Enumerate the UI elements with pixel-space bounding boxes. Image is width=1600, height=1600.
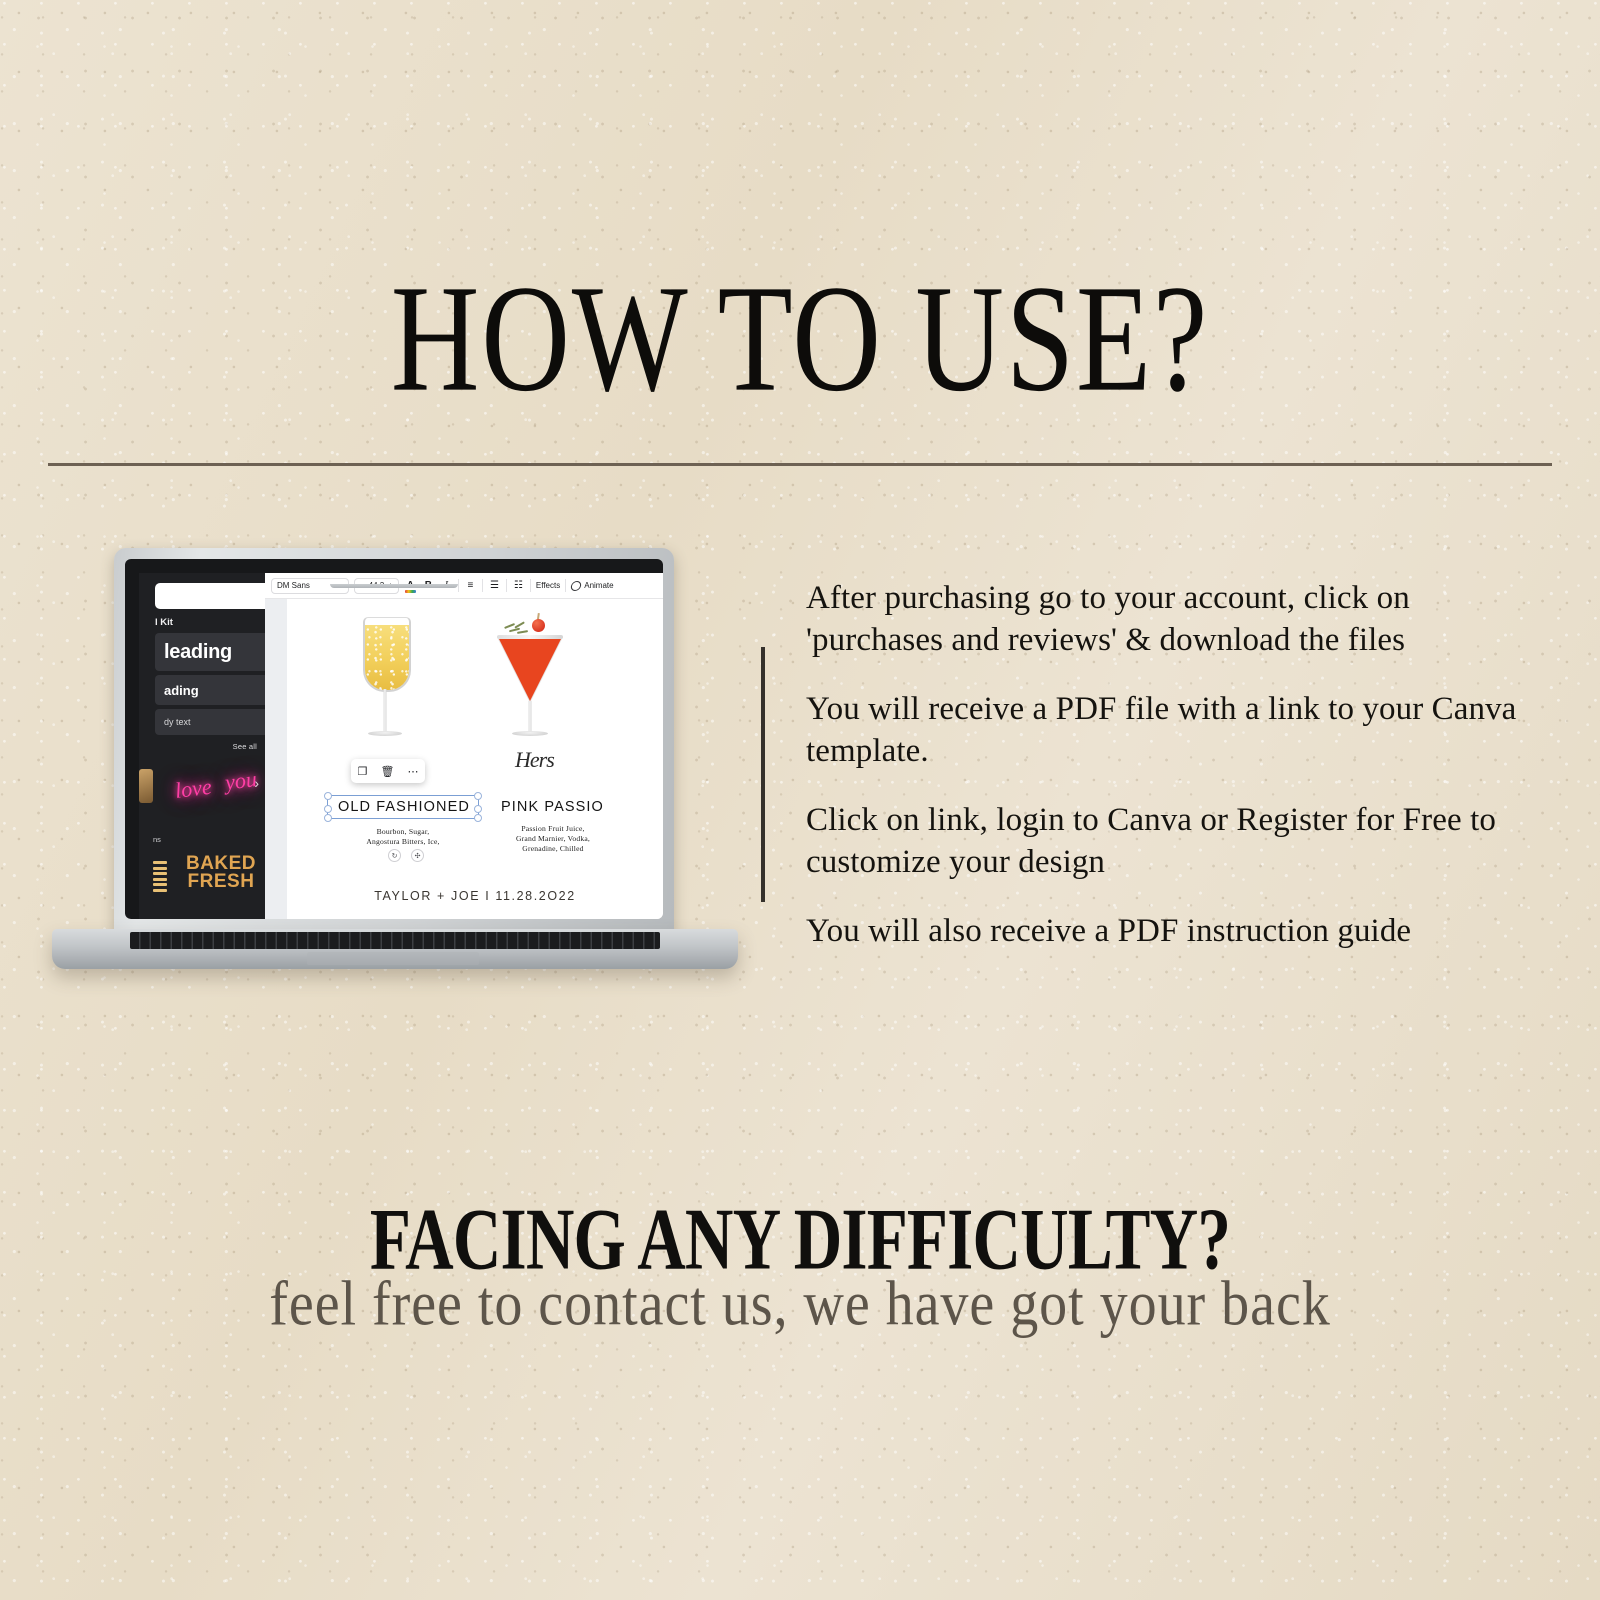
animate-label: Animate [584, 581, 613, 590]
text-style-heading[interactable]: leading [155, 633, 265, 671]
drink-description-right[interactable]: Passion Fruit Juice, Grand Marnier, Vodk… [487, 824, 619, 854]
neon-line-1: love [174, 778, 213, 800]
toolbar-separator [458, 579, 459, 592]
drink-description-left[interactable]: Bourbon, Sugar, Angostura Bitters, Ice, [329, 827, 477, 847]
toolbar-separator [506, 579, 507, 592]
design-page[interactable]: Hers ❐ 🗑 ⋯ [287, 599, 663, 919]
canva-sidebar: l Kit Edit leading ading dy text See all… [139, 573, 265, 919]
bottom-subheading: feel free to contact us, we have got you… [40, 1272, 1560, 1335]
brand-kit-row: l Kit Edit [155, 617, 265, 628]
glass-stem [529, 701, 532, 733]
neon-line-2: you [224, 770, 258, 792]
laptop-bezel: l Kit Edit leading ading dy text See all… [125, 559, 663, 919]
instruction-step: After purchasing go to your account, cli… [806, 578, 1526, 661]
resize-handle[interactable] [324, 814, 332, 822]
move-handle[interactable]: ✣ [411, 849, 424, 862]
laptop-screen: l Kit Edit leading ading dy text See all… [139, 573, 663, 919]
glass-bowl [363, 617, 411, 692]
cocktail-glass-illustration[interactable] [492, 613, 568, 745]
page-title: HOW TO USE? [56, 262, 1544, 415]
resize-handle[interactable] [474, 805, 482, 813]
instruction-step: You will also receive a PDF instruction … [806, 911, 1526, 953]
laptop-base [52, 929, 738, 969]
rotate-handle[interactable]: ↻ [388, 849, 401, 862]
toolbar-separator [530, 579, 531, 592]
laptop-trackpad [307, 952, 479, 965]
baked-fresh-graphic[interactable]: BAKED FRESH [175, 855, 265, 903]
drink-name-right[interactable]: PINK PASSIO [501, 799, 604, 815]
sidebar-bars-graphic [153, 861, 167, 894]
glass-foot [512, 731, 548, 736]
resize-handle[interactable] [474, 792, 482, 800]
laptop-mockup: l Kit Edit leading ading dy text See all… [52, 548, 752, 1008]
sidebar-section-label: ns [153, 835, 161, 844]
laptop-front-notch [330, 584, 458, 588]
animate-button[interactable]: Animate [571, 581, 613, 591]
glass-foot [368, 731, 402, 736]
resize-handle[interactable] [474, 814, 482, 822]
resize-handle[interactable] [324, 805, 332, 813]
script-label-hers[interactable]: Hers [515, 747, 554, 773]
canva-toolbar: DM Sans ⌄ − 44.2 + A B I ≡ ☰ [265, 573, 663, 599]
laptop-keyboard [130, 932, 660, 949]
instruction-steps: After purchasing go to your account, cli… [806, 578, 1526, 953]
more-options-icon[interactable]: ⋯ [407, 765, 418, 778]
sidebar-search-input[interactable] [155, 583, 265, 609]
font-family-value: DM Sans [277, 581, 310, 590]
laptop-lid: l Kit Edit leading ading dy text See all… [114, 548, 674, 933]
duplicate-icon[interactable]: ❐ [358, 765, 368, 778]
cherry-garnish-icon [532, 619, 545, 632]
horizontal-divider [48, 463, 1552, 466]
toolbar-separator [482, 579, 483, 592]
glass-stem [384, 689, 387, 733]
delete-icon[interactable]: 🗑 [380, 765, 394, 778]
glass-liquid [365, 625, 409, 690]
see-all-link[interactable]: See all [233, 742, 257, 751]
baked-line-2: FRESH [188, 871, 255, 892]
glass-rim [497, 635, 563, 639]
neon-love-you-graphic[interactable]: love you [170, 754, 262, 818]
effects-button[interactable]: Effects [536, 581, 560, 590]
bullet-list-icon[interactable]: ☰ [488, 578, 501, 594]
animate-icon [570, 581, 582, 591]
chevron-right-icon[interactable]: › [254, 775, 259, 791]
toolbar-separator [565, 579, 566, 592]
couple-names-date[interactable]: TAYLOR + JOE I 11.28.2O22 [287, 889, 663, 903]
vertical-divider [761, 647, 765, 902]
glass-liquid [499, 639, 561, 701]
drink-name-left[interactable]: OLD FASHIONED [338, 799, 470, 815]
text-style-body[interactable]: dy text [155, 709, 265, 735]
instruction-step: Click on link, login to Canva or Registe… [806, 800, 1526, 883]
sidebar-thumbnail[interactable] [139, 769, 153, 803]
line-spacing-icon[interactable]: ☷ [512, 578, 525, 594]
element-float-toolbar: ❐ 🗑 ⋯ [351, 759, 425, 783]
brand-kit-label: l Kit [155, 617, 173, 628]
instruction-step: You will receive a PDF file with a link … [806, 689, 1526, 772]
text-align-icon[interactable]: ≡ [464, 578, 477, 594]
text-style-subheading[interactable]: ading [155, 675, 265, 705]
champagne-glass-illustration[interactable] [349, 617, 421, 745]
canva-canvas-area: Hers ❐ 🗑 ⋯ [265, 599, 663, 919]
resize-handle[interactable] [324, 792, 332, 800]
